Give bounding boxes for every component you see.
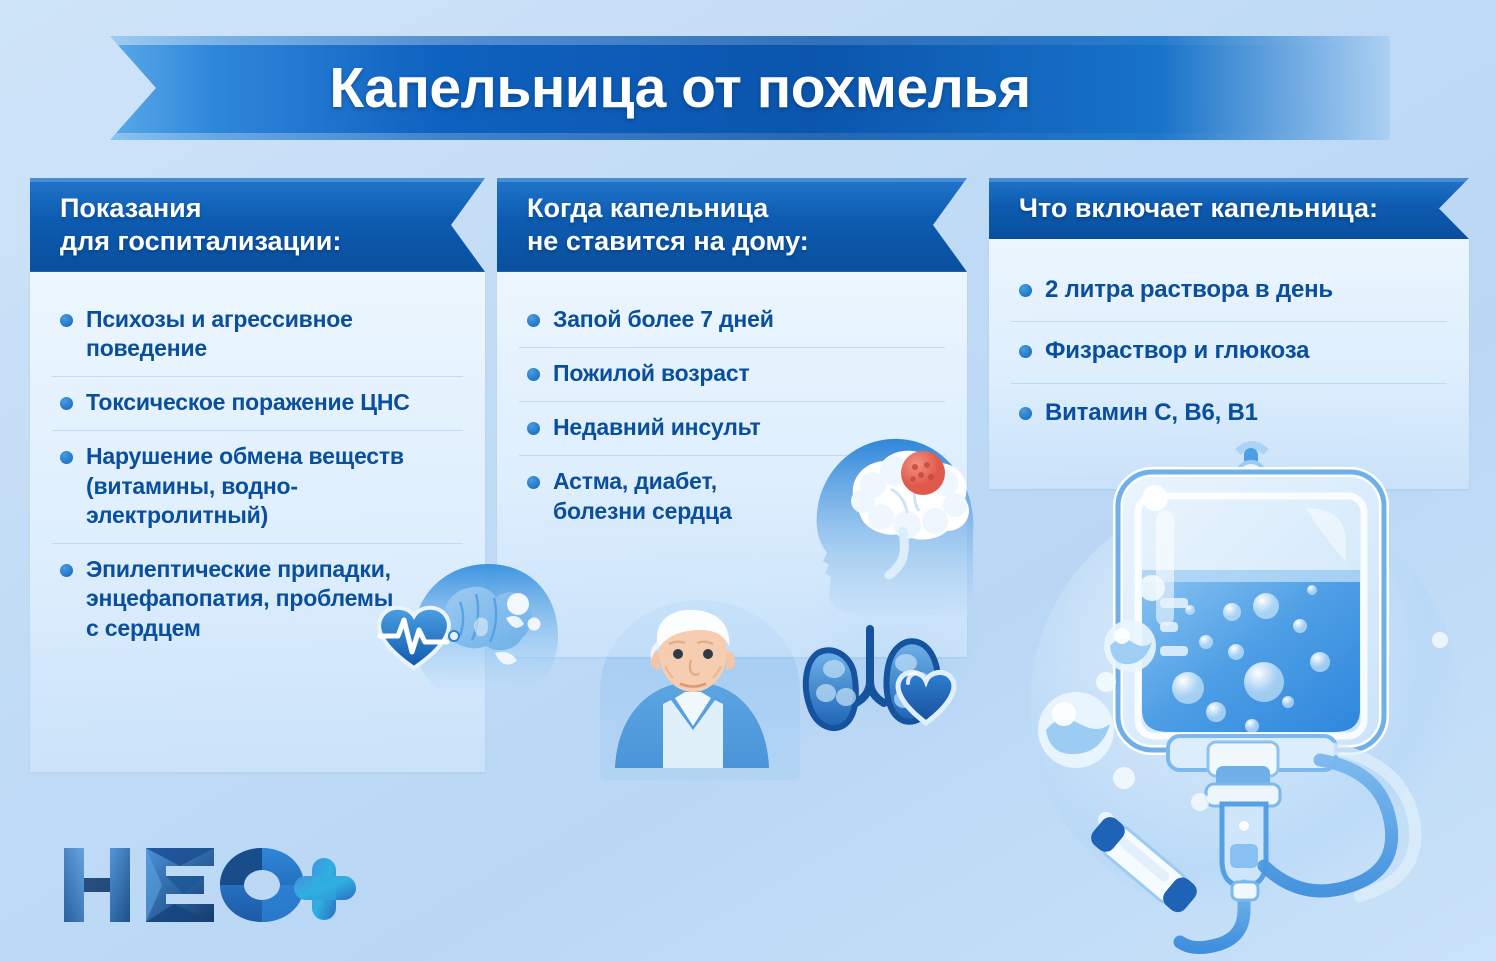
- stroke-head-icon: [795, 425, 1010, 625]
- page-title: Капельница от похмелья: [329, 55, 1030, 121]
- column-header-contents-label: Что включает капельница:: [1019, 193, 1378, 223]
- list-item: Пожилой возраст: [519, 348, 945, 402]
- bullet-dot-icon: [60, 564, 73, 577]
- list-item-label: Физраствор и глюкоза: [1045, 336, 1309, 366]
- head-brain-heart-ecg-icon: [368, 548, 598, 708]
- bullet-dot-icon: [1019, 284, 1032, 297]
- column-header-contraindications-label: Когда капельница не ставится на дому:: [527, 193, 809, 256]
- brand-logo: [62, 840, 347, 930]
- bullet-dot-icon: [60, 397, 73, 410]
- list-item: 2 литра раствора в день: [1011, 261, 1447, 322]
- bullet-dot-icon: [1019, 407, 1032, 420]
- lungs-heart-icon: [800, 615, 970, 745]
- column-header-indications-label: Показания для госпитализации:: [60, 193, 341, 256]
- list-item-label: Нарушение обмена веществ (витамины, водн…: [86, 442, 459, 530]
- list-item-label: Запой более 7 дней: [553, 305, 774, 334]
- list-item: Физраствор и глюкоза: [1011, 322, 1447, 383]
- bullet-dot-icon: [527, 422, 540, 435]
- list-item-label: Токсическое поражение ЦНС: [86, 388, 410, 417]
- list-item: Запой более 7 дней: [519, 294, 945, 348]
- contents-list: 2 литра раствора в день Физраствор и глю…: [1011, 261, 1447, 444]
- bullet-dot-icon: [60, 451, 73, 464]
- elderly-person-icon: [605, 608, 780, 768]
- list-item-label: Астма, диабет, болезни сердца: [553, 467, 732, 525]
- bullet-dot-icon: [527, 476, 540, 489]
- list-item: Токсическое поражение ЦНС: [52, 377, 463, 431]
- column-header-contents: Что включает капельница:: [989, 178, 1469, 239]
- list-item: Психозы и агрессивное поведение: [52, 294, 463, 377]
- bullet-dot-icon: [527, 368, 540, 381]
- list-item-label: Витамин С, В6, В1: [1045, 398, 1258, 428]
- list-item-label: 2 литра раствора в день: [1045, 275, 1333, 305]
- list-item: Нарушение обмена веществ (витамины, водн…: [52, 431, 463, 544]
- list-item-label: Пожилой возраст: [553, 359, 750, 388]
- iv-drip-bag-icon: [1020, 430, 1485, 955]
- list-item-label: Эпилептические припадки, энцефапопатия, …: [86, 555, 393, 643]
- bullet-dot-icon: [1019, 345, 1032, 358]
- bullet-dot-icon: [527, 314, 540, 327]
- page-title-banner: Капельница от похмелья: [110, 36, 1390, 140]
- column-header-indications: Показания для госпитализации:: [30, 178, 485, 272]
- column-header-contraindications: Когда капельница не ставится на дому:: [497, 178, 967, 272]
- list-item-label: Недавний инсульт: [553, 413, 761, 442]
- list-item-label: Психозы и агрессивное поведение: [86, 305, 353, 363]
- bullet-dot-icon: [60, 314, 73, 327]
